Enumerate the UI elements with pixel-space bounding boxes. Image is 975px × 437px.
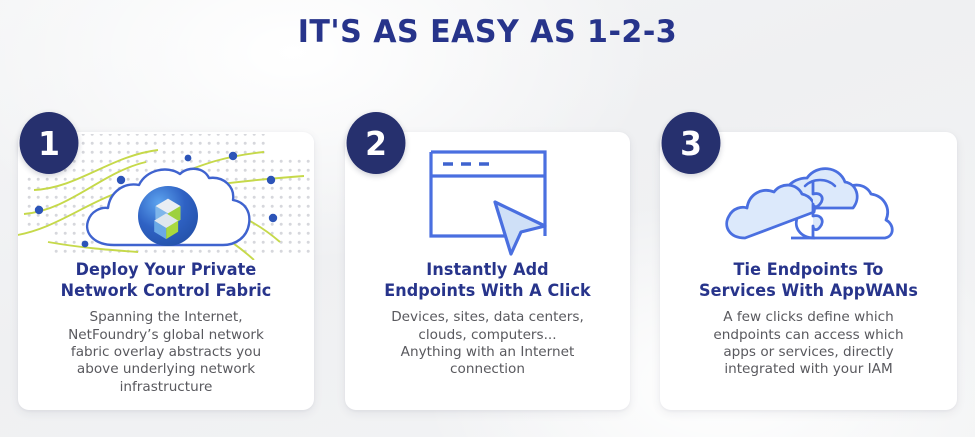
step-badge-3-number: 3 [680, 127, 702, 160]
card-3-heading: Tie Endpoints To Services With AppWANs [664, 259, 952, 301]
puzzle-clouds-icon [719, 146, 899, 264]
card-2-body: Devices, sites, data centers, clouds, co… [345, 301, 630, 379]
step-card-1: Deploy Your Private Network Control Fabr… [18, 132, 314, 410]
step-badge-1-number: 1 [38, 127, 60, 160]
card-1-body: Spanning the Internet, NetFoundry’s glob… [18, 301, 314, 396]
step-badge-2: 2 [347, 112, 406, 174]
card-1-heading: Deploy Your Private Network Control Fabr… [22, 259, 309, 301]
browser-window-cursor-icon [413, 140, 563, 260]
infographic-stage: IT'S AS EASY AS 1-2-3 [0, 0, 975, 437]
step-badge-3: 3 [662, 112, 721, 174]
step-badge-2-number: 2 [365, 127, 387, 160]
step-card-3: Tie Endpoints To Services With AppWANs A… [660, 132, 957, 410]
page-title: IT'S AS EASY AS 1-2-3 [15, 14, 961, 50]
step-card-2: Instantly Add Endpoints With A Click Dev… [345, 132, 630, 410]
card-3-body: A few clicks define which endpoints can … [660, 301, 957, 379]
step-badge-1: 1 [20, 112, 79, 174]
card-2-heading: Instantly Add Endpoints With A Click [349, 259, 625, 301]
